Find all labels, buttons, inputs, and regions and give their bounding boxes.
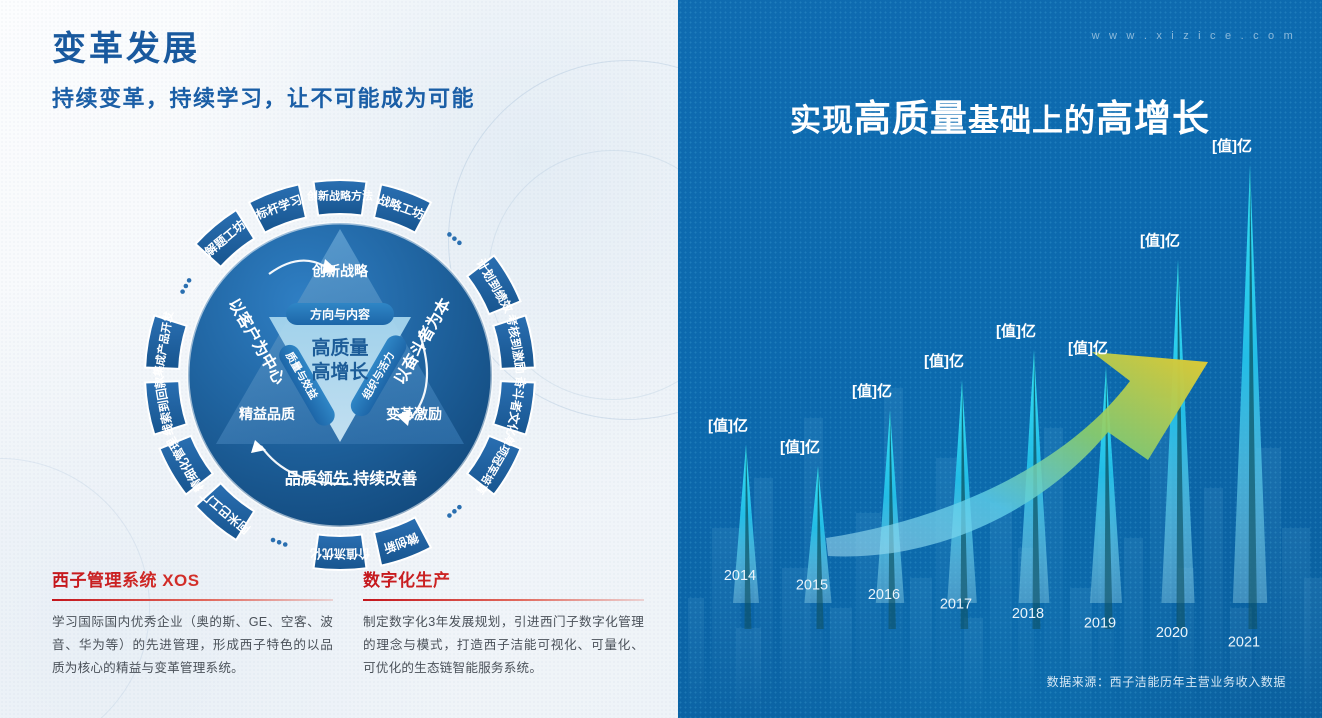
ring-ellipsis-dot — [447, 513, 452, 518]
ring-segment-label: 创新战略方法 — [306, 189, 373, 203]
ring-ellipsis-dot — [277, 540, 282, 545]
chart-value-label: [值]亿 — [780, 438, 820, 456]
ring-ellipsis-dot — [447, 232, 452, 237]
chart-title-emph1: 高质量 — [854, 98, 968, 139]
chart-title-emph2: 高增长 — [1096, 98, 1210, 139]
page-title: 变革发展 — [52, 28, 475, 71]
core-line2: 高增长 — [311, 360, 369, 383]
ring-ellipsis-dot — [180, 289, 185, 294]
core-line1: 高质量 — [311, 336, 368, 359]
chart-source-note: 数据来源：西子洁能历年主营业务收入数据 — [1047, 673, 1286, 690]
ring-ellipsis-dot — [283, 542, 288, 547]
chart-value-label: [值]亿 — [1068, 339, 1108, 357]
right-panel: w w w . x i z i c e . c o m 实现高质量基础上的高增长 — [678, 0, 1322, 718]
chart-category-label: 2017 — [940, 597, 972, 613]
column-xos: 西子管理系统 XOS 学习国际国内优秀企业（奥的斯、GE、空客、波音、华为等）的… — [52, 566, 333, 680]
column-digital-production: 数字化生产 制定数字化3年发展规划，引进西门子数字化管理的理念与模式，打造西子洁… — [363, 566, 644, 680]
heading-rule — [363, 599, 644, 601]
ring-ellipsis-dot — [184, 284, 189, 289]
chart-value-label: [值]亿 — [852, 382, 892, 400]
chart-category-label: 2016 — [868, 587, 900, 603]
page-subtitle: 持续变革，持续学习，让不可能成为可能 — [52, 81, 475, 113]
chart-value-label: [值]亿 — [996, 322, 1036, 340]
heading-rule — [52, 599, 333, 601]
inner-top-label: 方向与内容 — [310, 307, 370, 322]
site-watermark: w w w . x i z i c e . c o m — [1092, 30, 1296, 42]
xos-circle-diagram: 标杆学习创新战略方法战略工坊计划到绩效考核到激励奋斗者文化单项冠军培育微创新价值… — [119, 154, 561, 554]
slide-root: 变革发展 持续变革，持续学习，让不可能成为可能 — [0, 0, 1322, 718]
bottom-columns: 西子管理系统 XOS 学习国际国内优秀企业（奥的斯、GE、空客、波音、华为等）的… — [52, 566, 644, 680]
chart-title-mid: 基础上的 — [968, 103, 1096, 138]
column-heading: 数字化生产 — [363, 566, 644, 591]
chart-category-label: 2020 — [1156, 625, 1188, 641]
ring-ellipsis-dot — [187, 278, 192, 283]
vertex-top-label: 创新战略 — [311, 263, 369, 279]
chart-title: 实现高质量基础上的高增长 — [678, 88, 1322, 142]
vertex-left-label: 精益品质 — [239, 406, 295, 422]
left-panel: 变革发展 持续变革，持续学习，让不可能成为可能 — [0, 0, 678, 718]
chart-title-prefix: 实现 — [790, 103, 854, 138]
ring-ellipsis-dot — [271, 538, 276, 543]
chart-value-label: [值]亿 — [1140, 232, 1180, 250]
column-body: 制定数字化3年发展规划，引进西门子数字化管理的理念与模式，打造西子洁能可视化、可… — [363, 611, 644, 681]
chart-value-label: [值]亿 — [924, 352, 964, 370]
chart-category-label: 2019 — [1084, 616, 1116, 632]
ring-ellipsis-dot — [457, 241, 462, 246]
ring-segment-label: 价值流优化 — [310, 547, 370, 562]
ring-ellipsis-dot — [452, 509, 457, 514]
ring-ellipsis-dot — [452, 236, 457, 241]
left-header: 变革发展 持续变革，持续学习，让不可能成为可能 — [52, 28, 475, 113]
chart-category-label: 2015 — [796, 578, 828, 594]
chart-category-label: 2021 — [1228, 635, 1260, 651]
ring-ellipsis-dot — [457, 505, 462, 510]
chart-category-label: 2018 — [1012, 606, 1044, 622]
column-heading: 西子管理系统 XOS — [52, 566, 333, 591]
chart-value-label: [值]亿 — [708, 417, 748, 435]
column-body: 学习国际国内优秀企业（奥的斯、GE、空客、波音、华为等）的先进管理，形成西子特色… — [52, 611, 333, 681]
chart-bars — [733, 165, 1267, 629]
chart-category-label: 2014 — [724, 568, 756, 584]
